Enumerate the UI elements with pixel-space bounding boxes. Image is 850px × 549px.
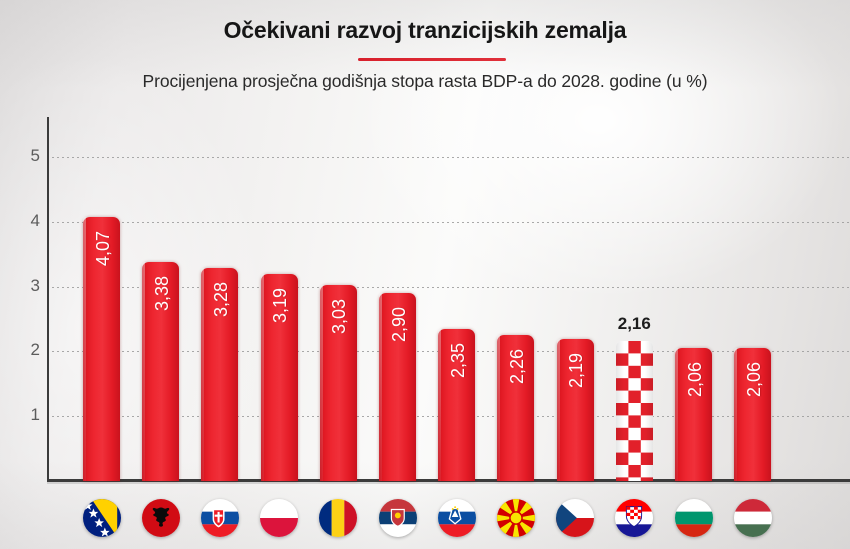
flag-icon-serbia: [379, 499, 417, 537]
bar-value-label: 2,06: [685, 362, 706, 397]
y-axis-tick-label: 2: [8, 340, 40, 360]
flag-icon-romania: [319, 499, 357, 537]
bar: [616, 341, 653, 481]
bar: 3,03: [320, 285, 357, 481]
y-axis-tick-label: 5: [8, 146, 40, 166]
bar: 3,19: [261, 274, 298, 481]
flag-icon-poland: [260, 499, 298, 537]
flag-icon-czechia: [556, 499, 594, 537]
flag-icon-north-macedonia: [497, 499, 535, 537]
bar: 2,90: [379, 293, 416, 481]
bar-value-label: 2,16: [602, 314, 667, 334]
bar: 4,07: [83, 217, 120, 481]
chart-canvas: Očekivani razvoj tranzicijskih zemalja P…: [0, 0, 850, 549]
flag-icon-slovenia: [438, 499, 476, 537]
bar: 3,28: [201, 268, 238, 481]
flag-icon-albania: [142, 499, 180, 537]
bar: 2,35: [438, 329, 475, 481]
flag-icon-bulgaria: [675, 499, 713, 537]
bar-value-label: 2,26: [507, 349, 528, 384]
bar-value-label: 2,06: [744, 362, 765, 397]
bar-value-label: 3,19: [270, 288, 291, 323]
flag-icon-bosnia: [83, 499, 121, 537]
bar: 3,38: [142, 262, 179, 481]
bar-value-label: 2,35: [448, 343, 469, 378]
gridline: [47, 222, 850, 223]
bar-value-label: 2,19: [566, 353, 587, 388]
y-axis-tick-label: 1: [8, 405, 40, 425]
bar-value-label: 4,07: [93, 231, 114, 266]
y-axis-tick-label: 3: [8, 276, 40, 296]
bar-value-label: 3,38: [152, 276, 173, 311]
flag-icon-slovakia: [201, 499, 239, 537]
y-axis-tick-label: 4: [8, 211, 40, 231]
bar-value-label: 3,03: [329, 299, 350, 334]
y-axis-line: [47, 117, 49, 481]
gridline: [47, 157, 850, 158]
flag-icon-hungary: [734, 499, 772, 537]
bar: 2,26: [497, 335, 534, 481]
flag-icon-croatia: [615, 499, 653, 537]
checkerboard-pattern: [616, 341, 653, 481]
bar-value-label: 2,90: [389, 307, 410, 342]
bar-value-label: 3,28: [211, 282, 232, 317]
bar: 2,06: [734, 348, 771, 481]
bar: 2,06: [675, 348, 712, 481]
bar: 2,19: [557, 339, 594, 481]
plot-area: 12345 4,073,383,283,193,032,902,352,262,…: [0, 0, 850, 549]
